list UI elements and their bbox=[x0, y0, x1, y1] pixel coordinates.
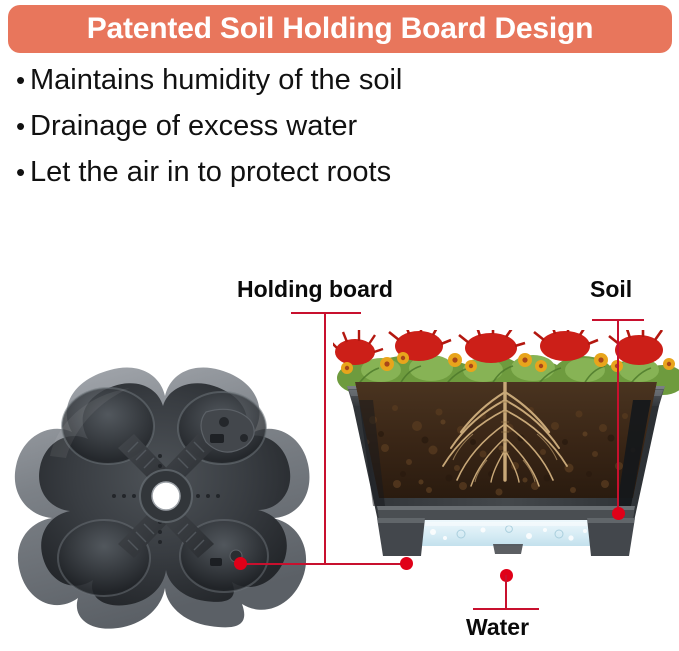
feature-text: Drainage of excess water bbox=[30, 112, 357, 141]
list-item: • Let the air in to protect roots bbox=[16, 158, 656, 204]
holding-board-image bbox=[10, 360, 320, 635]
bullet-icon: • bbox=[16, 67, 30, 93]
feature-text: Maintains humidity of the soil bbox=[30, 66, 402, 95]
feature-list: • Maintains humidity of the soil • Drain… bbox=[16, 66, 656, 204]
leader-line-holding-board-horizontal bbox=[240, 563, 410, 565]
planter-cross-section-image bbox=[333, 330, 679, 598]
leader-line-water-bar bbox=[473, 608, 539, 610]
callout-label-holding-board: Holding board bbox=[237, 278, 393, 301]
feature-text: Let the air in to protect roots bbox=[30, 158, 391, 187]
leader-dot-holding-board-left bbox=[234, 557, 247, 570]
infographic-page: Patented Soil Holding Board Design • Mai… bbox=[0, 0, 679, 651]
callout-label-water: Water bbox=[466, 616, 529, 639]
leader-dot-holding-board-right bbox=[400, 557, 413, 570]
callout-label-soil: Soil bbox=[590, 278, 632, 301]
list-item: • Maintains humidity of the soil bbox=[16, 66, 656, 112]
page-title: Patented Soil Holding Board Design bbox=[87, 14, 594, 44]
bullet-icon: • bbox=[16, 159, 30, 185]
leader-dot-soil bbox=[612, 507, 625, 520]
header-banner: Patented Soil Holding Board Design bbox=[8, 5, 672, 53]
leader-line-water-vertical bbox=[505, 575, 507, 609]
list-item: • Drainage of excess water bbox=[16, 112, 656, 158]
leader-line-holding-board-vertical bbox=[324, 312, 326, 564]
leader-line-holding-board-bar bbox=[291, 312, 361, 314]
leader-line-soil-vertical bbox=[617, 319, 619, 514]
bullet-icon: • bbox=[16, 113, 30, 139]
